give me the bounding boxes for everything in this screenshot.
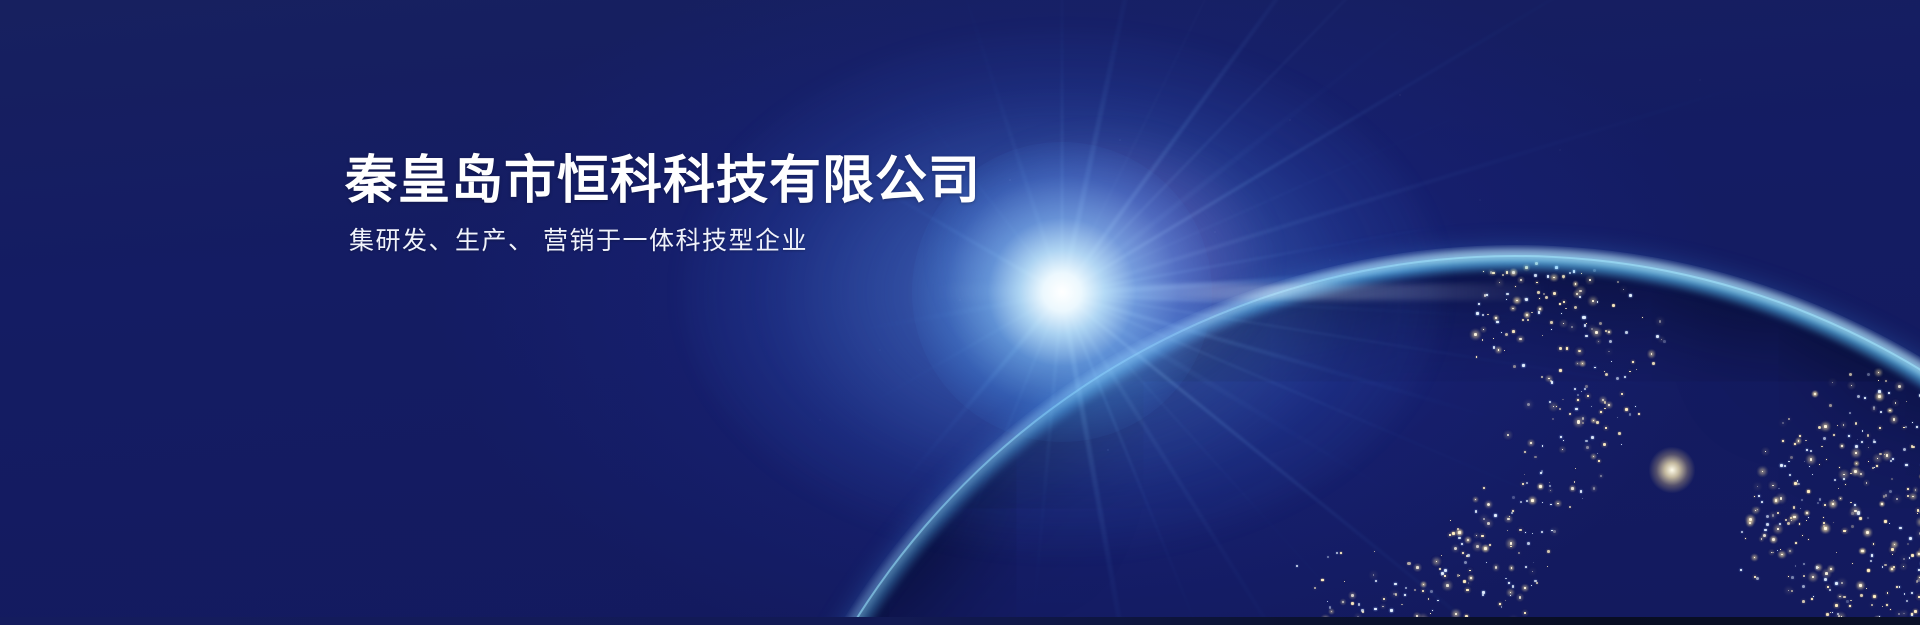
banner-text-block: 秦皇岛市恒科科技有限公司 集研发、生产、 营销于一体科技型企业: [345, 152, 981, 256]
city-lights-speckle: [735, 255, 1920, 625]
company-title: 秦皇岛市恒科科技有限公司: [345, 152, 981, 210]
bottom-edge-strip: [0, 617, 1920, 625]
hero-banner: 秦皇岛市恒科科技有限公司 集研发、生产、 营销于一体科技型企业: [0, 0, 1920, 625]
company-tagline: 集研发、生产、 营销于一体科技型企业: [349, 226, 981, 256]
earth-graphic: [0, 0, 1920, 625]
